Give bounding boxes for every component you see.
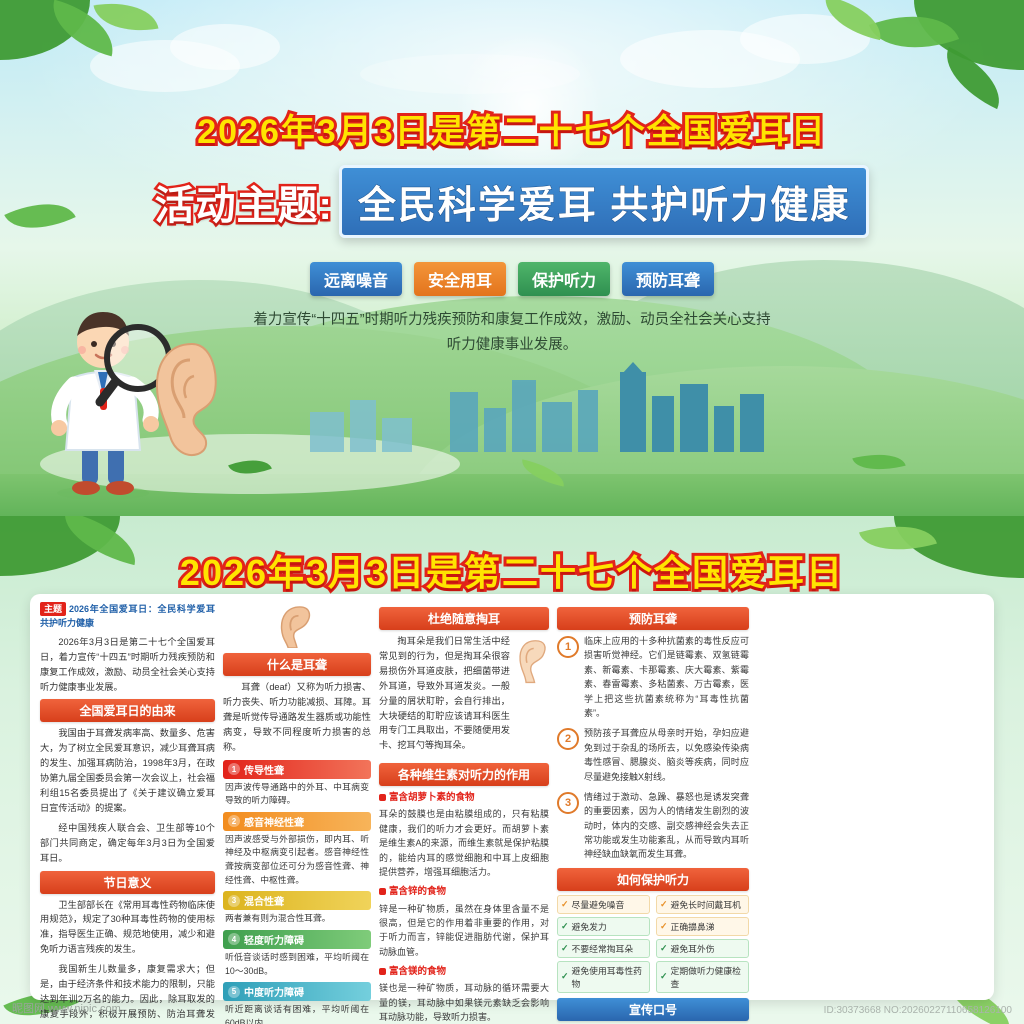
section-title-what-is-deafness: 什么是耳聋 xyxy=(223,653,371,676)
check-icon: ✓ xyxy=(660,921,668,932)
theme-note: 主题2026年全国爱耳日：全民科学爱耳 共护听力健康 xyxy=(40,602,215,631)
theme-label: 活动主题: xyxy=(155,173,333,231)
vitamin-text: 镁也是一种矿物质，耳动脉的循环需要大量的镁，耳动脉中如果镁元素缺乏会影响耳动脉功… xyxy=(379,981,549,1024)
prevention-text: 情绪过于激动、急躁、暴怒也是诱发突聋的重要因素，因为人的情绪发生剧烈的波动时，体… xyxy=(584,790,749,862)
checklist-label: 避免长时间戴耳机 xyxy=(671,898,741,911)
prevention-number: 1 xyxy=(557,636,579,658)
prevention-number: 3 xyxy=(557,792,579,814)
check-icon: ✓ xyxy=(660,971,668,982)
deafness-type-text: 听低音谈话时感到困难，平均听阈在10～30dB。 xyxy=(223,949,371,978)
vitamin-item: 富含锌的食物 锌是一种矿物质，虽然在身体里含量不是很高，但是它的作用着非重要的作… xyxy=(379,884,549,959)
check-icon: ✓ xyxy=(561,899,569,910)
deafness-type-head: 5 中度听力障碍 xyxy=(223,982,371,1001)
prevention-item: 1 临床上应用的十多种抗菌素的毒性反应可损害听觉神经。它们是链霉素、双氢链霉素、… xyxy=(557,634,749,720)
prevention-item: 2 预防孩子耳聋应从母亲时开始，孕妇应避免到过于杂乱的场所去，以免感染传染病毒性… xyxy=(557,726,749,784)
checklist-item: ✓不要经常掏耳朵 xyxy=(557,939,650,958)
deafness-type-label: 轻度听力障碍 xyxy=(244,932,304,947)
checklist-item: ✓定期做听力健康检查 xyxy=(656,961,749,993)
deafness-type-row: 1 传导性聋 因声波传导通路中的外耳、中耳病变导致的听力障碍。 xyxy=(223,760,371,808)
checklist-item: ✓避免长时间戴耳机 xyxy=(656,895,749,914)
check-icon: ✓ xyxy=(561,921,569,932)
poster-page: 2026年3月3日是第二十七个全国爱耳日 活动主题: 全民科学爱耳 共护听力健康… xyxy=(0,0,1024,1024)
check-icon: ✓ xyxy=(561,943,569,954)
deafness-type-text: 两者兼有则为混合性耳聋。 xyxy=(223,910,371,926)
checklist-item: ✓避免发力 xyxy=(557,917,650,936)
deafness-type-label: 感音神经性聋 xyxy=(244,814,304,829)
vitamin-item: 富含胡萝卜素的食物 耳朵的鼓膜也是由粘膜组成的，只有粘膜健康，我们的听力才会更好… xyxy=(379,790,549,879)
checklist-label: 避免使用耳毒性药物 xyxy=(572,964,646,990)
prevention-text: 预防孩子耳聋应从母亲时开始，孕妇应避免到过于杂乱的场所去，以免感染传染病毒性感冒… xyxy=(584,726,749,784)
section-title-meaning: 节日意义 xyxy=(40,871,215,894)
check-icon: ✓ xyxy=(660,899,668,910)
board-headline: 2026年3月3日是第二十七个全国爱耳日 xyxy=(0,544,1024,596)
ear-icon xyxy=(275,604,319,648)
section-title-prevention: 预防耳聋 xyxy=(557,607,749,630)
theme-text: 全民科学爱耳 共护听力健康 xyxy=(358,185,851,227)
meaning-paragraph-1: 卫生部部长在《常用耳毒性药物临床使用规范》，规定了30种耳毒性药物的使用标准，指… xyxy=(40,898,215,958)
column-prevention: 预防耳聋 1 临床上应用的十多种抗菌素的毒性反应可损害听觉神经。它们是链霉素、双… xyxy=(557,602,749,992)
theme-tag: 主题 xyxy=(40,602,66,616)
content-board: 主题2026年全国爱耳日：全民科学爱耳 共护听力健康 2026年3月3日是第二十… xyxy=(30,594,994,1000)
deafness-type-head: 2 感音神经性聋 xyxy=(223,812,371,831)
deafness-type-row: 3 混合性聋 两者兼有则为混合性耳聋。 xyxy=(223,891,371,926)
deafness-type-head: 3 混合性聋 xyxy=(223,891,371,910)
checklist-label: 避免发力 xyxy=(572,920,607,933)
prevention-item: 3 情绪过于激动、急躁、暴怒也是诱发突聋的重要因素，因为人的情绪发生剧烈的波动时… xyxy=(557,790,749,862)
deafness-type-text: 因声波传导通路中的外耳、中耳病变导致的听力障碍。 xyxy=(223,779,371,808)
deafness-type-number: 5 xyxy=(228,986,240,998)
vitamin-text: 锌是一种矿物质，虽然在身体里含量不是很高，但是它的作用着非重要的作用，对于听力而… xyxy=(379,902,549,960)
ear-picking-paragraph: 掏耳朵是我们日常生活中经常见到的行为，但是掏耳朵很容易损伤外耳道皮肤，把细菌带进… xyxy=(379,634,510,753)
pill-protect-hearing: 保护听力 xyxy=(518,262,610,296)
check-icon: ✓ xyxy=(660,943,668,954)
checklist-label: 尽量避免噪音 xyxy=(572,898,625,911)
section-title-slogans: 宣传口号 xyxy=(557,998,749,1021)
deafness-type-row: 2 感音神经性聋 因声波感受与外部损伤，即内耳、听神经及中枢病变引起者。感音神经… xyxy=(223,812,371,888)
bottom-board: 2026年3月3日是第二十七个全国爱耳日 主题2026年全国爱耳日：全民科学爱耳… xyxy=(0,516,1024,1024)
section-title-avoid-ear-picking: 杜绝随意掏耳 xyxy=(379,607,549,630)
deafness-type-head: 1 传导性聋 xyxy=(223,760,371,779)
deafness-type-number: 3 xyxy=(228,895,240,907)
checklist-label: 定期做听力健康检查 xyxy=(671,964,745,990)
checklist-item: ✓避免耳外伤 xyxy=(656,939,749,958)
cloud-shape xyxy=(170,24,280,70)
city-skyline xyxy=(300,362,780,452)
pill-safe-ear: 安全用耳 xyxy=(414,262,506,296)
deafness-type-number: 1 xyxy=(228,763,240,775)
poster-pill-row: 远离噪音 安全用耳 保护听力 预防耳聋 xyxy=(0,262,1024,296)
section-title-origin: 全国爱耳日的由来 xyxy=(40,699,215,722)
column-avoid-ear-picking: 杜绝随意掏耳 掏耳朵是我们日常生活中经常见到的行为，但是掏耳朵很容易损伤外耳道皮… xyxy=(379,602,549,992)
pill-prevent-deafness: 预防耳聋 xyxy=(622,262,714,296)
deafness-type-text: 因声波感受与外部损伤，即内耳、听神经及中枢病变引起者。感音神经性聋按病变部位还可… xyxy=(223,831,371,888)
prevention-text: 临床上应用的十多种抗菌素的毒性反应可损害听觉神经。它们是链霉素、双氢链霉素、新霉… xyxy=(584,634,749,720)
vitamin-heading: 富含胡萝卜素的食物 xyxy=(379,790,549,805)
deafness-type-text: 听近距离谈话有困难，平均听阈在60dB以内。 xyxy=(223,1001,371,1024)
vitamin-heading: 富含锌的食物 xyxy=(379,884,549,899)
deafness-type-number: 2 xyxy=(228,815,240,827)
column-origin: 主题2026年全国爱耳日：全民科学爱耳 共护听力健康 2026年3月3日是第二十… xyxy=(40,602,215,992)
checklist-label: 不要经常掏耳朵 xyxy=(572,942,634,955)
deafness-type-row: 4 轻度听力障碍 听低音谈话时感到困难，平均听阈在10～30dB。 xyxy=(223,930,371,978)
vitamin-text: 耳朵的鼓膜也是由粘膜组成的，只有粘膜健康，我们的听力才会更好。而胡萝卜素是维生素… xyxy=(379,807,549,879)
origin-paragraph-2: 经中国残疾人联合会、卫生部等10个部门共同商定，确定每年3月3日为全国爱耳日。 xyxy=(40,821,215,866)
checklist-item: ✓尽量避免噪音 xyxy=(557,895,650,914)
watermark-right: ID:30373668 NO:20260227110658126100 xyxy=(824,1005,1012,1016)
top-poster: 2026年3月3日是第二十七个全国爱耳日 活动主题: 全民科学爱耳 共护听力健康… xyxy=(0,0,1024,516)
deafness-type-label: 混合性聋 xyxy=(244,893,284,908)
intro-paragraph: 2026年3月3日是第二十七个全国爱耳日，着力宣传“十四五”时期听力残疾预防和康… xyxy=(40,635,215,695)
section-title-vitamins: 各种维生素对听力的作用 xyxy=(379,763,549,786)
checklist-label: 正确擤鼻涕 xyxy=(671,920,715,933)
poster-theme-row: 活动主题: 全民科学爱耳 共护听力健康 xyxy=(0,165,1024,238)
theme-note-text: 2026年全国爱耳日：全民科学爱耳 共护听力健康 xyxy=(40,604,215,628)
checklist-item: ✓避免使用耳毒性药物 xyxy=(557,961,650,993)
theme-box: 全民科学爱耳 共护听力健康 xyxy=(339,165,870,238)
column-what-is-deafness: 什么是耳聋 耳聋（deaf）又称为听力损害、听力丧失、听力功能减损、耳障。耳聋是… xyxy=(223,602,371,992)
pill-noise: 远离噪音 xyxy=(310,262,402,296)
vitamin-heading: 富含镁的食物 xyxy=(379,964,549,979)
ear-picking-block: 掏耳朵是我们日常生活中经常见到的行为，但是掏耳朵很容易损伤外耳道皮肤，把细菌带进… xyxy=(379,634,549,758)
poster-headline: 2026年3月3日是第二十七个全国爱耳日 xyxy=(0,104,1024,153)
prevention-number: 2 xyxy=(557,728,579,750)
checklist-item: ✓正确擤鼻涕 xyxy=(656,917,749,936)
deafness-type-row: 5 中度听力障碍 听近距离谈话有困难，平均听阈在60dB以内。 xyxy=(223,982,371,1024)
deafness-type-head: 4 轻度听力障碍 xyxy=(223,930,371,949)
deafness-type-label: 中度听力障碍 xyxy=(244,984,304,999)
deafness-intro: 耳聋（deaf）又称为听力损害、听力丧失、听力功能减损、耳障。耳聋是听觉传导通路… xyxy=(223,680,371,755)
deafness-type-label: 传导性聋 xyxy=(244,762,284,777)
big-ear-illustration xyxy=(150,340,220,460)
ear-icon xyxy=(515,638,549,686)
vitamin-item: 富含镁的食物 镁也是一种矿物质，耳动脉的循环需要大量的镁，耳动脉中如果镁元素缺乏… xyxy=(379,964,549,1024)
deafness-type-number: 4 xyxy=(228,933,240,945)
watermark-left: 昵图网 www.nipic.com xyxy=(12,1000,121,1016)
check-icon: ✓ xyxy=(561,971,569,982)
section-title-how-to-protect: 如何保护听力 xyxy=(557,868,749,891)
checklist-label: 避免耳外伤 xyxy=(671,942,715,955)
protect-checklist: ✓尽量避免噪音 ✓避免长时间戴耳机 ✓避免发力 ✓正确擤鼻涕 ✓不要经常掏耳朵 … xyxy=(557,895,749,993)
origin-paragraph-1: 我国由于耳聋发病率高、数量多、危害大，为了树立全民爱耳意识，减少耳聋耳病的发生、… xyxy=(40,726,215,815)
